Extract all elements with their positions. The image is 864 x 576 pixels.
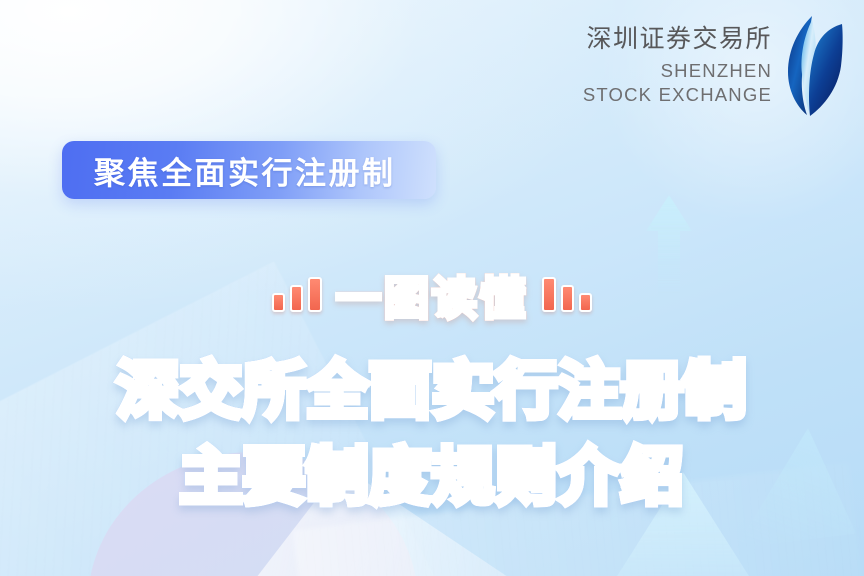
szse-logo: 深圳证券交易所 SHENZHEN STOCK EXCHANGE: [583, 14, 846, 118]
page-title: 深交所全面实行注册制 主要制度规则介绍: [0, 348, 864, 519]
descending-bars-icon: [542, 278, 592, 312]
szse-logo-mark-icon: [782, 14, 846, 118]
tick-bar: [579, 293, 592, 312]
logo-name-en: SHENZHEN STOCK EXCHANGE: [583, 59, 772, 105]
tick-bar: [561, 285, 574, 312]
logo-name-en-line2: STOCK EXCHANGE: [583, 83, 772, 106]
logo-name-en-line1: SHENZHEN: [583, 59, 772, 82]
tick-bar: [308, 277, 322, 312]
poster-canvas: 深圳证券交易所 SHENZHEN STOCK EXCHANGE: [0, 0, 864, 576]
readme-banner: 一图读懂: [0, 262, 864, 327]
tick-bar: [290, 285, 303, 312]
tick-bar: [272, 293, 285, 312]
tick-bar: [542, 277, 556, 312]
logo-text-block: 深圳证券交易所 SHENZHEN STOCK EXCHANGE: [583, 26, 772, 105]
headline-line-1: 深交所全面实行注册制: [0, 348, 864, 434]
ascending-bars-icon: [272, 278, 322, 312]
focus-badge: 聚焦全面实行注册制: [62, 141, 436, 199]
logo-name-cn: 深圳证券交易所: [583, 26, 772, 51]
focus-badge-label: 聚焦全面实行注册制: [94, 148, 396, 193]
headline-line-2: 主要制度规则介绍: [0, 434, 864, 520]
readme-label: 一图读懂: [336, 262, 528, 327]
